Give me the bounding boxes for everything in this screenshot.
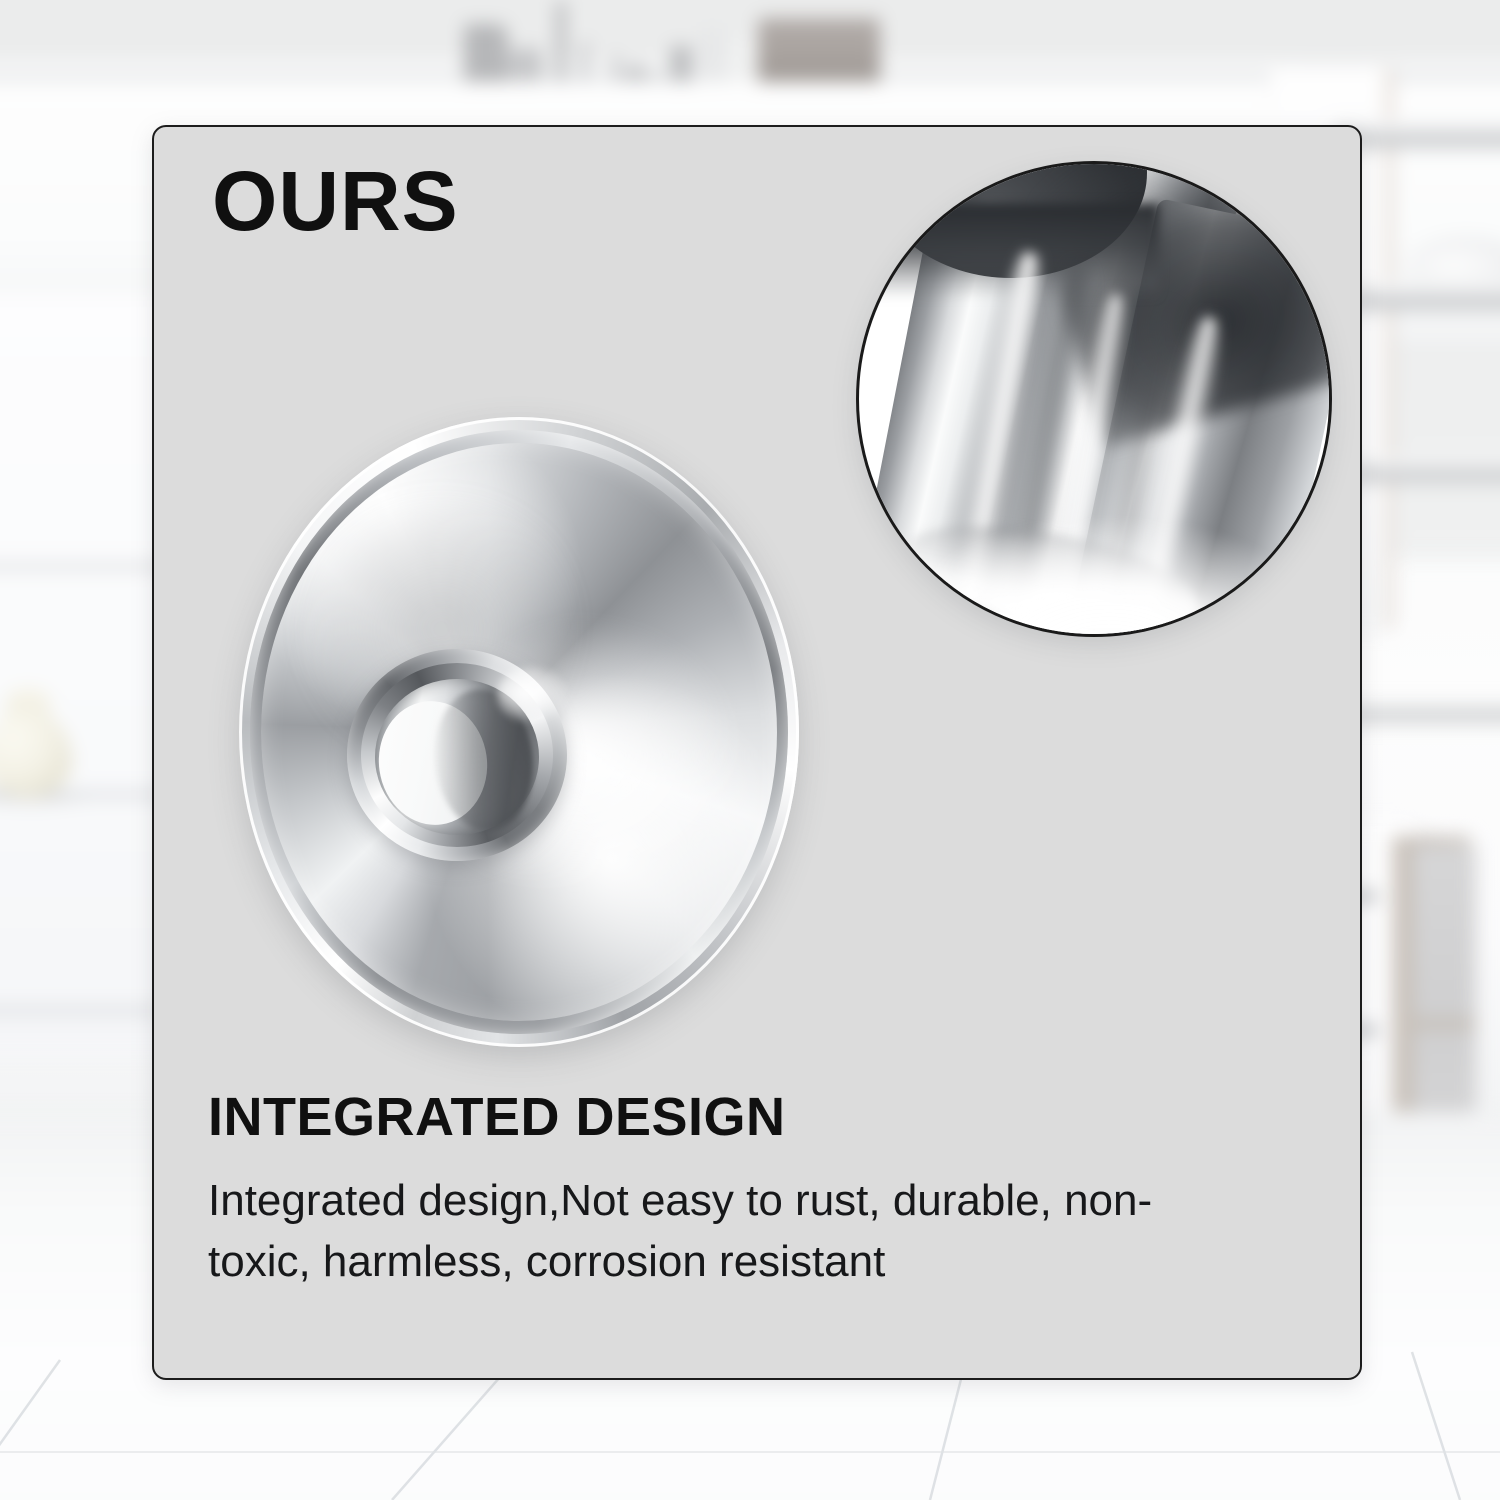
feature-card: OURS [152, 125, 1362, 1380]
page-title: OURS [212, 155, 459, 247]
macro-tube-rim-shadow [859, 204, 1159, 300]
feature-description: Integrated design,Not easy to rust, dura… [208, 1171, 1218, 1292]
macro-bottom-fade [856, 474, 1332, 637]
product-image-conical-flange [239, 417, 799, 1047]
product-feature-image: OURS [0, 0, 1500, 1500]
macro-detail-circle [856, 161, 1332, 637]
feature-subtitle: INTEGRATED DESIGN [208, 1087, 1288, 1147]
feature-copy-block: INTEGRATED DESIGN Integrated design,Not … [208, 1087, 1288, 1293]
bore-specular-glint [497, 667, 567, 723]
